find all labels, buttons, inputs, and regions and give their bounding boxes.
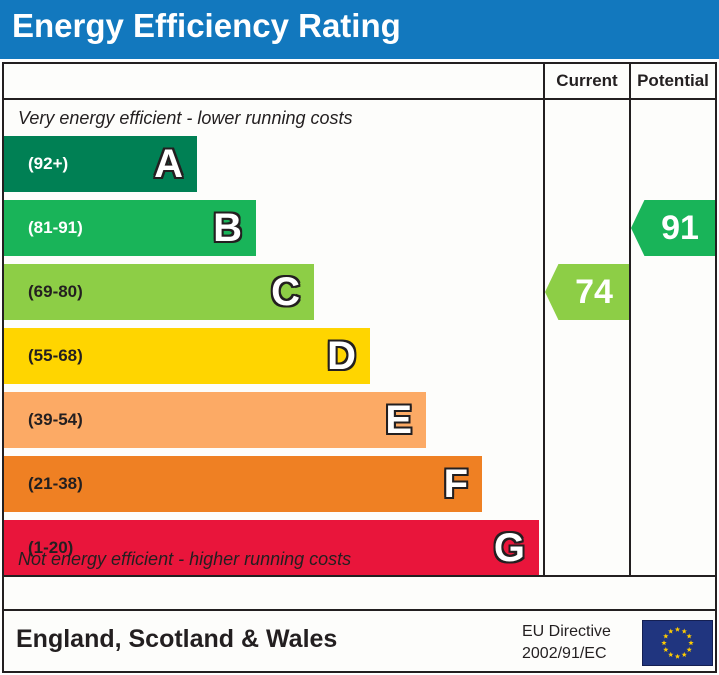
column-header-potential: Potential <box>629 64 715 98</box>
footer-directive-label: EU Directive 2002/91/EC <box>522 621 611 664</box>
band-range-a: (92+) <box>28 154 68 174</box>
footer-directive-line2: 2002/91/EC <box>522 643 611 665</box>
footer-directive-line1: EU Directive <box>522 621 611 643</box>
band-letter-e: E <box>385 400 412 440</box>
band-f: (21-38) F <box>4 456 482 512</box>
band-range-f: (21-38) <box>28 474 83 494</box>
title-banner: Energy Efficiency Rating <box>0 0 719 59</box>
band-a: (92+) A <box>4 136 197 192</box>
band-range-b: (81-91) <box>28 218 83 238</box>
page-title: Energy Efficiency Rating <box>12 7 401 45</box>
caption-not-efficient: Not energy efficient - higher running co… <box>4 541 543 577</box>
footer-region-label: England, Scotland & Wales <box>16 625 337 654</box>
column-header-current: Current <box>543 64 629 98</box>
column-divider-potential <box>629 100 631 577</box>
caption-very-efficient: Very energy efficient - lower running co… <box>4 100 543 136</box>
rating-table: Current Potential Very energy efficient … <box>2 62 717 611</box>
band-e: (39-54) E <box>4 392 426 448</box>
band-letter-f: F <box>444 464 468 504</box>
eu-flag-icon <box>642 620 713 666</box>
band-letter-c: C <box>271 272 300 312</box>
current-rating-value: 74 <box>561 275 613 309</box>
potential-rating-value: 91 <box>647 211 699 245</box>
band-letter-b: B <box>213 208 242 248</box>
band-range-c: (69-80) <box>28 282 83 302</box>
eu-flag-stars <box>643 621 712 665</box>
energy-efficiency-rating-chart: Energy Efficiency Rating Current Potenti… <box>0 0 719 675</box>
table-header-row: Current Potential <box>4 64 715 100</box>
band-range-e: (39-54) <box>28 410 83 430</box>
footer-bar: England, Scotland & Wales EU Directive 2… <box>2 611 717 673</box>
column-divider-current <box>543 100 545 577</box>
band-letter-d: D <box>327 336 356 376</box>
potential-rating-marker: 91 <box>631 200 715 256</box>
band-range-d: (55-68) <box>28 346 83 366</box>
rating-bands: (92+) A (81-91) B (69-80) C (55-68) D (3… <box>4 136 543 541</box>
band-d: (55-68) D <box>4 328 370 384</box>
band-c: (69-80) C <box>4 264 314 320</box>
current-rating-marker: 74 <box>545 264 629 320</box>
band-letter-a: A <box>154 144 183 184</box>
band-b: (81-91) B <box>4 200 256 256</box>
